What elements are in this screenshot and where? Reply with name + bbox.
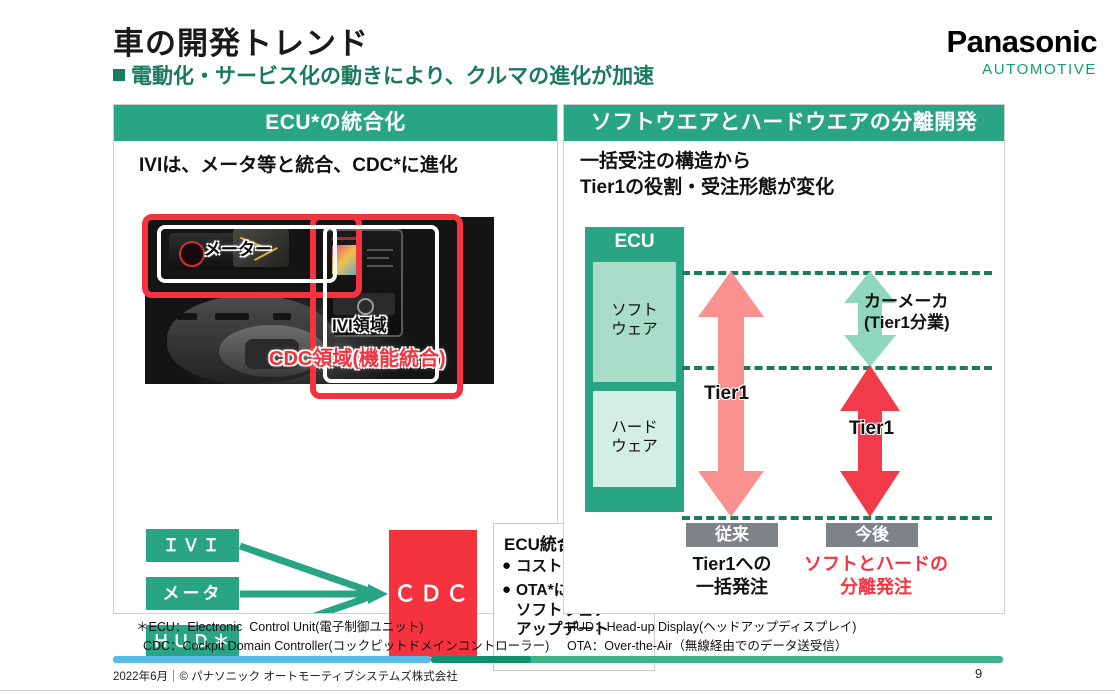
left-panel-heading: ECU*の統合化: [114, 105, 557, 141]
flow-source-meter: メータ: [146, 577, 239, 610]
left-panel: ECU*の統合化 IVIは、メータ等と統合、CDC*に進化: [113, 104, 558, 614]
carmaker-note: カーメーカ (Tier1分業): [864, 291, 1004, 334]
tier1-left-label: Tier1: [704, 383, 749, 405]
cdc-region-label: CDC領域(機能統合): [269, 342, 446, 371]
flow-source-ivi: ＩＶＩ: [146, 529, 239, 562]
right-panel: ソフトウエアとハードウエアの分離開発 一括受注の構造から Tier1の役割・受注…: [563, 104, 1005, 614]
footer-bar-blue: [113, 656, 431, 663]
legacy-badge: 従来: [686, 523, 778, 547]
footer-divider: [0, 690, 1115, 691]
legacy-caption: Tier1への 一括発注: [672, 553, 792, 598]
bullet-square-icon: [113, 69, 125, 81]
panasonic-logo: Panasonic AUTOMOTIVE: [946, 26, 1097, 77]
ecu-block-title: ECU: [585, 231, 684, 253]
bullet-dot-icon: ●: [502, 557, 516, 576]
left-panel-lead: IVIは、メータ等と統合、CDC*に進化: [139, 153, 458, 179]
right-panel-heading: ソフトウエアとハードウエアの分離開発: [564, 105, 1004, 141]
page-subtitle-text: 電動化・サービス化の動きにより、クルマの進化が加速: [131, 65, 654, 88]
air-vent: [273, 313, 291, 320]
slide-root: 車の開発トレンド 電動化・サービス化の動きにより、クルマの進化が加速 Panas…: [0, 0, 1115, 697]
ecu-hardware-label: ハード ウェア: [593, 419, 676, 456]
footer-bar-green: [525, 656, 1003, 663]
tier1-future-arrow: [838, 363, 902, 519]
page-subtitle: 電動化・サービス化の動きにより、クルマの進化が加速: [113, 60, 654, 90]
future-badge: 今後: [826, 523, 918, 547]
air-vent: [177, 313, 197, 320]
ecu-block: ECU ソフト ウェア ハード ウェア: [585, 227, 684, 512]
ecu-software-block: ソフト ウェア: [593, 262, 676, 382]
left-footnote: ＊ECU：Electronic Control Unit(電子制御ユニット) C…: [136, 618, 549, 656]
ecu-software-label: ソフト ウェア: [593, 302, 676, 339]
air-vent: [215, 313, 249, 320]
footer-bar-dark-green: [431, 656, 531, 663]
footer-page-number: 9: [975, 666, 982, 681]
meter-region-label: メーター: [204, 235, 272, 260]
brand-division: AUTOMOTIVE: [946, 62, 1097, 77]
tier1-right-label: Tier1: [849, 418, 894, 440]
ecu-hardware-block: ハード ウェア: [593, 391, 676, 487]
page-title: 車の開発トレンド: [113, 18, 369, 63]
ivi-region-label: IVI領域: [332, 311, 387, 336]
brand-name: Panasonic: [946, 26, 1097, 57]
right-panel-lead: 一括受注の構造から Tier1の役割・受注形態が変化: [580, 149, 834, 200]
future-caption: ソフトとハードの 分離発注: [798, 553, 954, 598]
right-footnote: HUD：Head-up Display(ヘッドアップディスプレイ) OTA：Ov…: [567, 618, 856, 656]
footer-copyright: 2022年6月｜© パナソニック オートモーティブシステムズ株式会社: [113, 668, 458, 684]
